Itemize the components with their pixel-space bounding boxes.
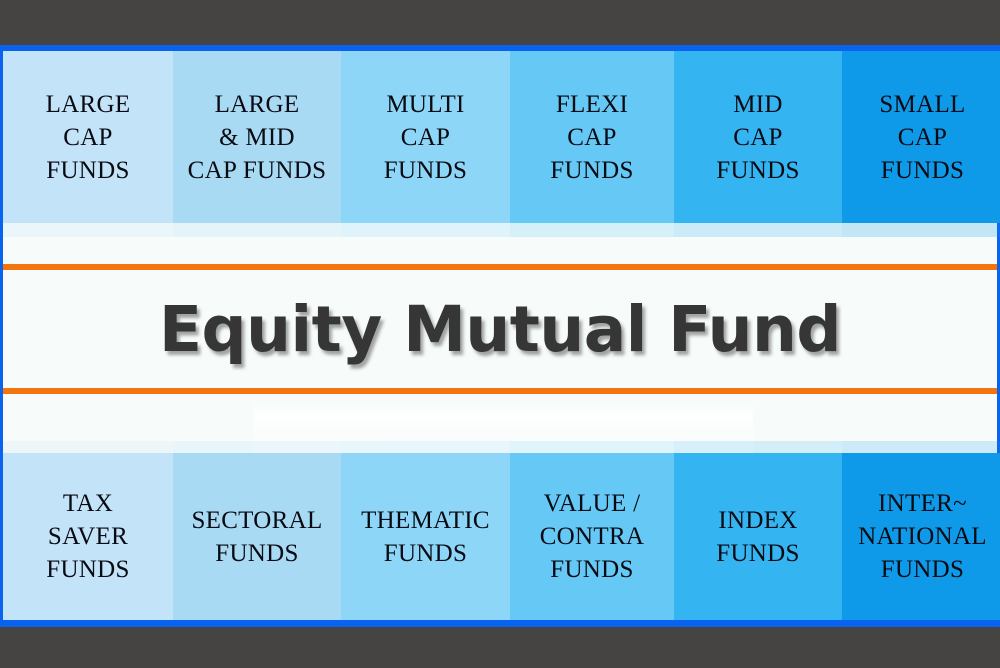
fund-tile-sectoral-funds[interactable]: SECTORALFUNDS: [173, 453, 341, 620]
color-echo-segment: [842, 223, 1000, 237]
equity-mutual-fund-infographic: LARGECAPFUNDS LARGE& MIDCAP FUNDS MULTIC…: [0, 45, 1000, 627]
fund-tile-flexi-cap-funds[interactable]: FLEXICAPFUNDS: [510, 51, 674, 223]
top-row-color-echo: [3, 223, 997, 237]
fund-tile-label: INDEXFUNDS: [716, 504, 799, 570]
fund-tile-international-funds[interactable]: INTER~NATIONALFUNDS: [842, 453, 1000, 620]
fund-category-row-top: LARGECAPFUNDS LARGE& MIDCAP FUNDS MULTIC…: [3, 51, 997, 223]
color-echo-segment: [842, 441, 1000, 453]
fund-tile-label: THEMATICFUNDS: [361, 504, 490, 570]
fund-tile-label: MULTICAPFUNDS: [384, 88, 467, 187]
color-echo-segment: [510, 223, 674, 237]
fund-tile-mid-cap-funds[interactable]: MIDCAPFUNDS: [674, 51, 842, 223]
color-echo-segment: [3, 441, 173, 453]
fund-tile-label: INTER~NATIONALFUNDS: [858, 487, 987, 586]
infographic-panel: LARGECAPFUNDS LARGE& MIDCAP FUNDS MULTIC…: [3, 51, 997, 620]
fund-tile-label: FLEXICAPFUNDS: [550, 88, 633, 187]
color-echo-segment: [3, 223, 173, 237]
fund-tile-large-and-mid-cap-funds[interactable]: LARGE& MIDCAP FUNDS: [173, 51, 341, 223]
color-echo-segment: [173, 441, 341, 453]
color-echo-segment: [510, 441, 674, 453]
fund-tile-thematic-funds[interactable]: THEMATICFUNDS: [341, 453, 510, 620]
page-title: Equity Mutual Fund: [159, 293, 841, 366]
fund-tile-index-funds[interactable]: INDEXFUNDS: [674, 453, 842, 620]
color-echo-segment: [674, 223, 842, 237]
color-echo-segment: [341, 223, 510, 237]
fund-tile-label: SMALLCAPFUNDS: [879, 88, 965, 187]
title-band: Equity Mutual Fund: [3, 270, 997, 388]
fund-tile-large-cap-funds[interactable]: LARGECAPFUNDS: [3, 51, 173, 223]
fund-category-row-bottom: TAXSAVERFUNDS SECTORALFUNDS THEMATICFUND…: [3, 453, 997, 620]
color-echo-segment: [674, 441, 842, 453]
divider-rule-lower: [3, 388, 997, 394]
bottom-row-color-echo: [3, 441, 997, 453]
fund-tile-label: VALUE /CONTRAFUNDS: [540, 487, 645, 586]
fund-tile-small-cap-funds[interactable]: SMALLCAPFUNDS: [842, 51, 1000, 223]
fund-tile-label: LARGECAPFUNDS: [46, 88, 131, 187]
fund-tile-label: TAXSAVERFUNDS: [46, 487, 129, 586]
fund-tile-value-contra-funds[interactable]: VALUE /CONTRAFUNDS: [510, 453, 674, 620]
fund-tile-tax-saver-funds[interactable]: TAXSAVERFUNDS: [3, 453, 173, 620]
fund-tile-label: MIDCAPFUNDS: [716, 88, 799, 187]
fund-tile-label: LARGE& MIDCAP FUNDS: [188, 88, 327, 187]
color-echo-segment: [173, 223, 341, 237]
color-echo-segment: [341, 441, 510, 453]
fund-tile-multi-cap-funds[interactable]: MULTICAPFUNDS: [341, 51, 510, 223]
fund-tile-label: SECTORALFUNDS: [191, 504, 322, 570]
